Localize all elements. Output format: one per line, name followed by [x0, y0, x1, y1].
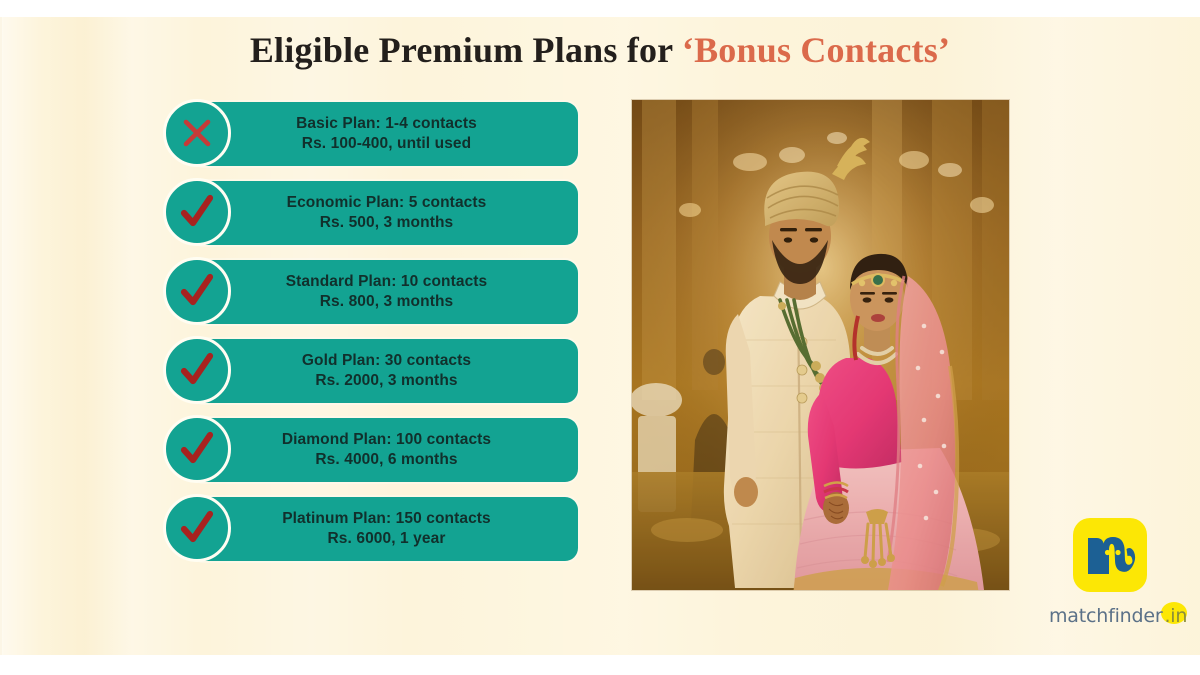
- plan-text: Platinum Plan: 150 contacts Rs. 6000, 1 …: [223, 497, 550, 561]
- plan-line-1: Standard Plan: 10 contacts: [286, 272, 488, 292]
- list-item[interactable]: Economic Plan: 5 contacts Rs. 500, 3 mon…: [163, 181, 583, 245]
- check-icon: [177, 429, 217, 469]
- status-badge: [163, 257, 231, 325]
- list-item[interactable]: Gold Plan: 30 contacts Rs. 2000, 3 month…: [163, 339, 583, 403]
- status-badge: [163, 494, 231, 562]
- brand-wordmark: matchfinder.in: [1049, 605, 1171, 627]
- plan-line-1: Economic Plan: 5 contacts: [287, 193, 487, 213]
- plan-text: Diamond Plan: 100 contacts Rs. 4000, 6 m…: [223, 418, 550, 482]
- cross-icon: [180, 116, 214, 150]
- list-item[interactable]: Standard Plan: 10 contacts Rs. 800, 3 mo…: [163, 260, 583, 324]
- status-badge: [163, 415, 231, 483]
- check-icon: [177, 508, 217, 548]
- check-icon: [177, 192, 217, 232]
- plan-list: Basic Plan: 1-4 contacts Rs. 100-400, un…: [163, 102, 583, 576]
- plan-text: Gold Plan: 30 contacts Rs. 2000, 3 month…: [223, 339, 550, 403]
- plan-line-1: Gold Plan: 30 contacts: [302, 351, 471, 371]
- brand-tld: .in: [1162, 605, 1189, 627]
- page-title: Eligible Premium Plans for ‘Bonus Contac…: [0, 29, 1200, 71]
- check-icon: [177, 271, 217, 311]
- list-item[interactable]: Basic Plan: 1-4 contacts Rs. 100-400, un…: [163, 102, 583, 166]
- list-item[interactable]: Diamond Plan: 100 contacts Rs. 4000, 6 m…: [163, 418, 583, 482]
- plan-line-2: Rs. 4000, 6 months: [315, 450, 457, 470]
- infographic-canvas: Eligible Premium Plans for ‘Bonus Contac…: [0, 0, 1200, 675]
- plan-line-2: Rs. 800, 3 months: [320, 292, 454, 312]
- plan-text: Standard Plan: 10 contacts Rs. 800, 3 mo…: [223, 260, 550, 324]
- page-title-plain: Eligible Premium Plans for: [250, 30, 682, 70]
- plan-line-2: Rs. 2000, 3 months: [315, 371, 457, 391]
- plan-line-2: Rs. 500, 3 months: [320, 213, 454, 233]
- plan-line-2: Rs. 100-400, until used: [302, 134, 471, 154]
- list-item[interactable]: Platinum Plan: 150 contacts Rs. 6000, 1 …: [163, 497, 583, 561]
- page-title-highlight: ‘Bonus Contacts’: [682, 30, 950, 70]
- plan-line-1: Basic Plan: 1-4 contacts: [296, 114, 477, 134]
- status-badge: [163, 99, 231, 167]
- plan-line-2: Rs. 6000, 1 year: [328, 529, 446, 549]
- plan-text: Basic Plan: 1-4 contacts Rs. 100-400, un…: [223, 102, 550, 166]
- plan-line-1: Platinum Plan: 150 contacts: [282, 509, 491, 529]
- check-icon: [177, 350, 217, 390]
- brand-logo[interactable]: matchfinder.in: [1049, 518, 1171, 627]
- wedding-couple-photo: [632, 100, 1009, 590]
- status-badge: [163, 336, 231, 404]
- status-badge: [163, 178, 231, 246]
- plan-text: Economic Plan: 5 contacts Rs. 500, 3 mon…: [223, 181, 550, 245]
- plan-line-1: Diamond Plan: 100 contacts: [282, 430, 491, 450]
- matchfinder-m-logo-icon: [1073, 518, 1147, 592]
- brand-name: matchfinder: [1049, 605, 1162, 627]
